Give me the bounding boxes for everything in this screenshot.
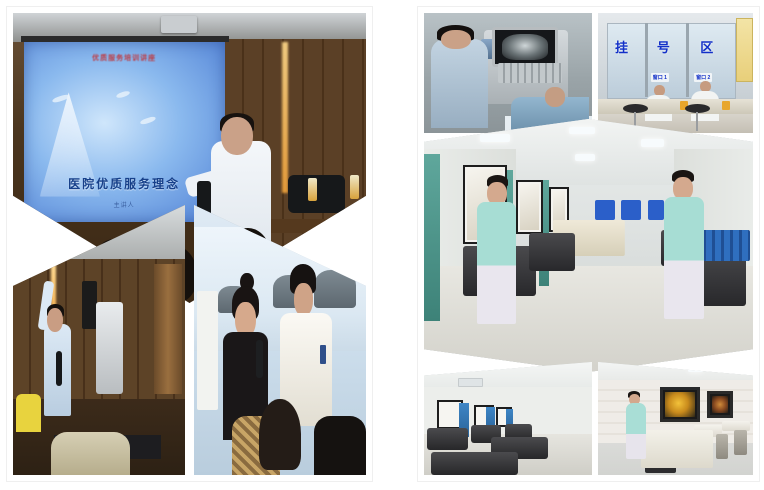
photo-instructor-raising-hand[interactable]	[13, 205, 185, 475]
photo-question-microphone[interactable]	[194, 205, 366, 475]
stool-post	[696, 112, 698, 130]
glass-mullion	[686, 23, 689, 97]
ceiling-light	[688, 369, 704, 372]
department-sign	[621, 200, 641, 220]
audience-head	[259, 399, 300, 469]
chair-back	[51, 432, 130, 475]
photo-canteen-counter[interactable]	[598, 362, 753, 475]
raise-hand-scene	[13, 205, 185, 475]
ceiling-light	[569, 127, 595, 135]
lounge-scene	[424, 362, 592, 475]
service-counter	[641, 430, 712, 468]
wall-artwork-frame	[707, 391, 733, 417]
window-label-1: 窗口 1	[651, 73, 669, 82]
air-conditioner	[96, 302, 124, 394]
left-photo-collage[interactable]: 优质服务培训讲座 医院优质服务理念 主讲人	[7, 7, 372, 481]
sign-character-1: 挂	[615, 37, 628, 56]
cup	[722, 101, 730, 111]
slide-title-red: 优质服务培训讲座	[24, 53, 225, 63]
sign-character-2: 号	[657, 37, 670, 56]
ultrasound-monitor	[492, 27, 558, 67]
microphone-icon	[256, 340, 263, 378]
control-panel	[498, 63, 562, 82]
photo-corridor-nurses[interactable]	[424, 119, 753, 372]
ceiling-light	[480, 134, 510, 142]
photo-ultrasound-exam[interactable]	[424, 13, 592, 133]
glass-partition	[607, 23, 736, 99]
rock	[314, 270, 355, 308]
waiting-sofa	[427, 428, 467, 451]
slide-bird-icon	[140, 115, 157, 125]
presenter-head	[221, 117, 253, 155]
blue-waiting-chairs	[697, 230, 750, 260]
right-photo-collage[interactable]: 挂 号 区 窗口 1 窗口 2	[418, 7, 759, 481]
projector-icon	[161, 16, 196, 33]
corridor-scene	[424, 119, 753, 372]
ceiling-light	[641, 139, 664, 147]
doctor-face	[294, 283, 313, 315]
collage-page: 优质服务培训讲座 医院优质服务理念 主讲人	[0, 0, 764, 490]
department-sign	[648, 200, 664, 220]
water-bottle	[350, 175, 359, 198]
wall-artwork-frame	[516, 180, 543, 235]
artwork-yellow-flowers	[665, 392, 695, 417]
water-bottle	[308, 178, 317, 201]
dining-chair	[716, 434, 728, 459]
photo-reception-window[interactable]: 挂 号 区 窗口 1 窗口 2	[598, 13, 753, 133]
green-pillar	[424, 154, 440, 321]
wall-light-strip	[282, 42, 288, 193]
name-badge	[320, 345, 327, 364]
photo-waiting-lounge[interactable]	[424, 362, 592, 475]
office-chair	[288, 175, 344, 213]
instructor-head	[47, 308, 62, 332]
doctor-body	[431, 39, 488, 128]
audience-dark-jacket	[314, 416, 366, 475]
ultrasound-scan-image	[502, 34, 548, 60]
reception-scene: 挂 号 区 窗口 1 窗口 2	[598, 13, 753, 133]
audience-yellow-jacket	[16, 394, 40, 432]
ceiling-vent	[458, 378, 484, 387]
ceiling-light	[575, 154, 595, 160]
stool	[685, 104, 710, 130]
canteen-scene	[598, 362, 753, 475]
lecture-scene: 优质服务培训讲座 医院优质服务理念 主讲人	[13, 13, 366, 303]
photo-lecture-presentation[interactable]: 优质服务培训讲座 医院优质服务理念 主讲人	[13, 13, 366, 303]
artwork-warm-tones	[712, 396, 728, 412]
department-sign	[595, 200, 615, 220]
information-poster	[736, 18, 754, 82]
counter-top	[598, 99, 753, 113]
sign-character-3: 区	[700, 37, 713, 56]
doctor-head	[441, 30, 471, 49]
wall-artwork-frame	[660, 387, 700, 422]
glass-mullion	[645, 23, 648, 97]
mic-qa-scene	[194, 205, 366, 475]
dining-chair	[734, 430, 746, 455]
waiting-sofa	[431, 452, 518, 475]
ultrasound-scene	[424, 13, 592, 133]
projector-icon	[44, 232, 72, 248]
speaker-box	[82, 281, 97, 330]
nurse-uniform	[664, 197, 703, 318]
patient-head	[545, 87, 565, 106]
curtain	[154, 264, 182, 394]
slide-bird-icon	[116, 90, 131, 99]
flip-chart	[197, 291, 218, 410]
nurse-uniform	[626, 403, 646, 460]
nurse-uniform	[477, 202, 516, 323]
microphone-icon	[56, 351, 62, 386]
waiting-sofa	[529, 233, 575, 271]
